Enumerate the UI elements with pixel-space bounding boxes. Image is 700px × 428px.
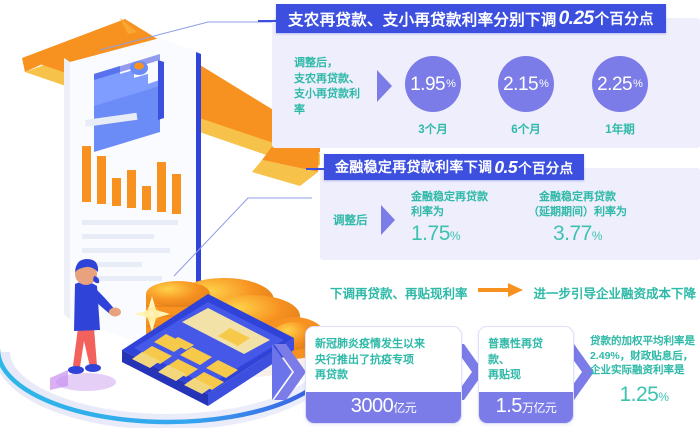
leader-line-mid [306,168,326,170]
card-1-line-2: 央行推出了抗疫专项 [315,353,452,369]
top-panel-label: 调整后，支农再贷款、支小再贷款利率 [294,56,368,118]
rate-value-1: 1.95 [410,75,445,94]
triangle-right-icon [381,205,395,235]
stability-normal-line-1: 金融稳定再贷款 [411,190,488,205]
leader-line-top [258,20,278,22]
bottom-card-inclusive-loan: 普惠性再贷款、 再贴现 1.5万亿元 [478,326,574,424]
arrow-row-right-text: 进一步引导企业融资成本下降 [534,283,697,302]
tail-percent: % [658,390,668,404]
tail-value: 1.25 [619,383,658,406]
bottom-effective-rate-note: 贷款的加权平均利率是 2.49%，财政贴息后， 企业实际融资利率是 1.25% [590,334,698,407]
card-2-body: 普惠性再贷款、 再贴现 [479,327,573,390]
infographic-canvas: 支农再贷款、支小再贷款利率分别下调 0.25 个百分点 调整后，支农再贷款、支小… [0,0,700,428]
stability-deferred-line-1: 金融稳定再贷款 [528,190,627,205]
top-panel-label-line: 支小再贷款利率 [294,87,368,118]
banner-title-stability-rate: 金融稳定再贷款利率下调 0.5 个百分点 [324,154,584,180]
rate-value-2: 2.15 [503,75,538,94]
stability-deferred-value: 3.77 [553,222,592,245]
bottom-card-special-loan: 新冠肺炎疫情发生以来 央行推出了抗疫专项 再贷款 3000亿元 [305,326,462,424]
tail-line-1: 贷款的加权平均利率是 [590,334,698,349]
card-2-amount: 1.5 [496,395,522,417]
rate-term-3: 1年期 [585,121,655,137]
stability-deferred-percent: % [592,229,602,243]
stability-normal-line-2: 利率为 [411,205,488,220]
causal-arrow-row: 下调再贷款、再贴现利率 进一步引导企业融资成本下降 [330,281,694,303]
triangle-right-icon [377,70,392,102]
card-2-amount-bar: 1.5万亿元 [479,392,573,423]
rate-value-3: 2.25 [597,75,632,94]
banner-1-tail: 个百分点 [595,8,654,29]
card-2-unit: 万亿元 [522,401,557,415]
tail-line-3: 企业实际融资利率是 [590,363,698,378]
mid-panel-label: 调整后 [333,212,368,228]
rate-term-2: 6个月 [491,121,561,137]
rate-percent-1: % [446,79,456,90]
rate-percent-3: % [633,79,643,90]
top-panel-label-line: 支农再贷款、 [294,72,368,88]
card-2-line-2: 再贴现 [488,368,564,384]
stability-rate-deferred: 金融稳定再贷款 （延期期间）利率为 3.77% [528,190,627,246]
rate-circle-3: 2.25 % [592,56,648,112]
arrow-row-left-text: 下调再贷款、再贴现利率 [330,283,468,302]
stability-deferred-line-2: （延期期间）利率为 [528,205,627,220]
rate-term-1: 3个月 [398,121,468,137]
arrow-right-icon [478,282,524,303]
rate-circle-1: 1.95 % [405,56,461,112]
stability-normal-percent: % [450,229,460,243]
tail-line-2: 2.49%，财政贴息后， [590,349,698,364]
banner-2-tail: 个百分点 [518,157,573,177]
rate-percent-2: % [539,79,549,90]
stability-normal-value: 1.75 [411,222,450,245]
banner-title-agri-rate: 支农再贷款、支小再贷款利率分别下调 0.25 个百分点 [276,4,666,33]
card-1-line-3: 再贷款 [315,368,452,384]
stability-normal-value-wrap: 1.75% [411,222,488,246]
card-1-amount-bar: 3000亿元 [306,392,461,423]
mid-panel [320,168,700,260]
rate-circle-2: 2.15 % [498,56,554,112]
card-1-body: 新冠肺炎疫情发生以来 央行推出了抗疫专项 再贷款 [306,327,461,390]
top-panel-label-line: 调整后， [294,56,368,72]
stability-rate-normal: 金融稳定再贷款 利率为 1.75% [411,190,488,246]
stability-deferred-value-wrap: 3.77% [528,222,627,246]
banner-2-lead: 金融稳定再贷款利率下调 [335,157,492,177]
banner-2-value: 0.5 [494,157,517,178]
tail-value-wrap: 1.25% [590,383,698,407]
banner-1-lead: 支农再贷款、支小再贷款利率分别下调 [288,8,557,30]
card-1-line-1: 新冠肺炎疫情发生以来 [315,337,452,353]
card-1-amount: 3000 [351,395,394,417]
card-2-line-1: 普惠性再贷款、 [488,337,564,368]
banner-1-value: 0.25 [559,8,594,30]
card-1-unit: 亿元 [393,401,416,415]
